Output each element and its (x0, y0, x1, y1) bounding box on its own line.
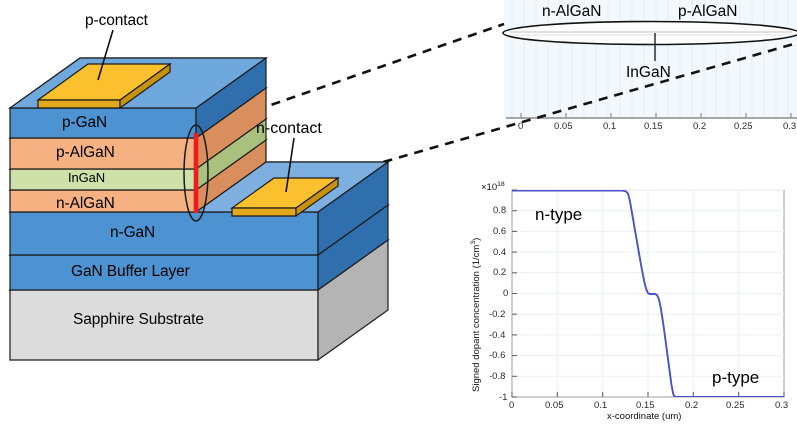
chart-ytick--0.8: -0.8 (489, 371, 505, 382)
chart-xtick-0.1: 0.1 (594, 400, 607, 411)
chart-ytick-0.4: 0.4 (493, 247, 506, 258)
label-n-contact: n-contact (256, 120, 322, 138)
chart-ytick-0: 0 (503, 288, 508, 299)
label-ingan: InGaN (68, 170, 105, 185)
label-p-contact: p-contact (85, 12, 148, 30)
chart-ytick--0.6: -0.6 (489, 350, 505, 361)
inset-label-p-algan: p-AlGaN (678, 3, 737, 21)
inset-magnified-slice (503, 22, 797, 45)
chart-xtick-0.25: 0.25 (726, 400, 745, 411)
chart-xtick-0.2: 0.2 (685, 400, 698, 411)
chart-ytick--0.2: -0.2 (489, 309, 505, 320)
chart-annotation-p-type: p-type (712, 368, 759, 388)
chart-y-exponent-sup: 18 (497, 181, 505, 188)
chart-ytick-0.2: 0.2 (493, 267, 506, 278)
figure-canvas (0, 0, 797, 434)
label-gan-buffer-layer: GaN Buffer Layer (71, 263, 190, 281)
chart-ytick--0.4: -0.4 (489, 330, 505, 341)
label-p-algan: p-AlGaN (56, 144, 115, 162)
label-n-gan: n-GaN (110, 224, 155, 242)
chart-xtick-0.3: 0.3 (775, 400, 788, 411)
chart-y-exponent: ×1018 (481, 181, 505, 193)
inset-xtick-0: 0 (518, 121, 523, 132)
label-sapphire-substrate: Sapphire Substrate (73, 311, 204, 329)
label-n-algan: n-AlGaN (56, 195, 115, 213)
chart-xtick-0.05: 0.05 (545, 400, 564, 411)
inset-xtick-3: 0.15 (644, 121, 663, 132)
chart-ytick--1: -1 (499, 392, 507, 403)
inset-xtick-6: 0.3 (783, 121, 796, 132)
inset-label-n-algan: n-AlGaN (542, 3, 601, 21)
chart-xtick-0: 0 (509, 400, 514, 411)
figure-root: p-contact p-GaN p-AlGaN InGaN n-AlGaN n-… (0, 0, 797, 434)
chart-y-exponent-base: ×10 (481, 182, 497, 193)
inset-xtick-5: 0.25 (734, 121, 753, 132)
inset-xtick-4: 0.2 (693, 121, 706, 132)
inset-xtick-1: 0.05 (554, 121, 573, 132)
chart-ytick-0.6: 0.6 (493, 226, 506, 237)
chart-x-axis-title: x-coordinate (um) (607, 411, 681, 422)
inset-label-ingan: InGaN (626, 64, 671, 82)
chart-xtick-0.15: 0.15 (636, 400, 655, 411)
chart-annotation-n-type: n-type (535, 205, 582, 225)
inset-xtick-2: 0.1 (603, 121, 616, 132)
chart-ytick-0.8: 0.8 (493, 205, 506, 216)
label-p-gan: p-GaN (62, 114, 107, 132)
chart-y-axis-title: Signed dopant concentration (1/cm3) (470, 238, 482, 392)
